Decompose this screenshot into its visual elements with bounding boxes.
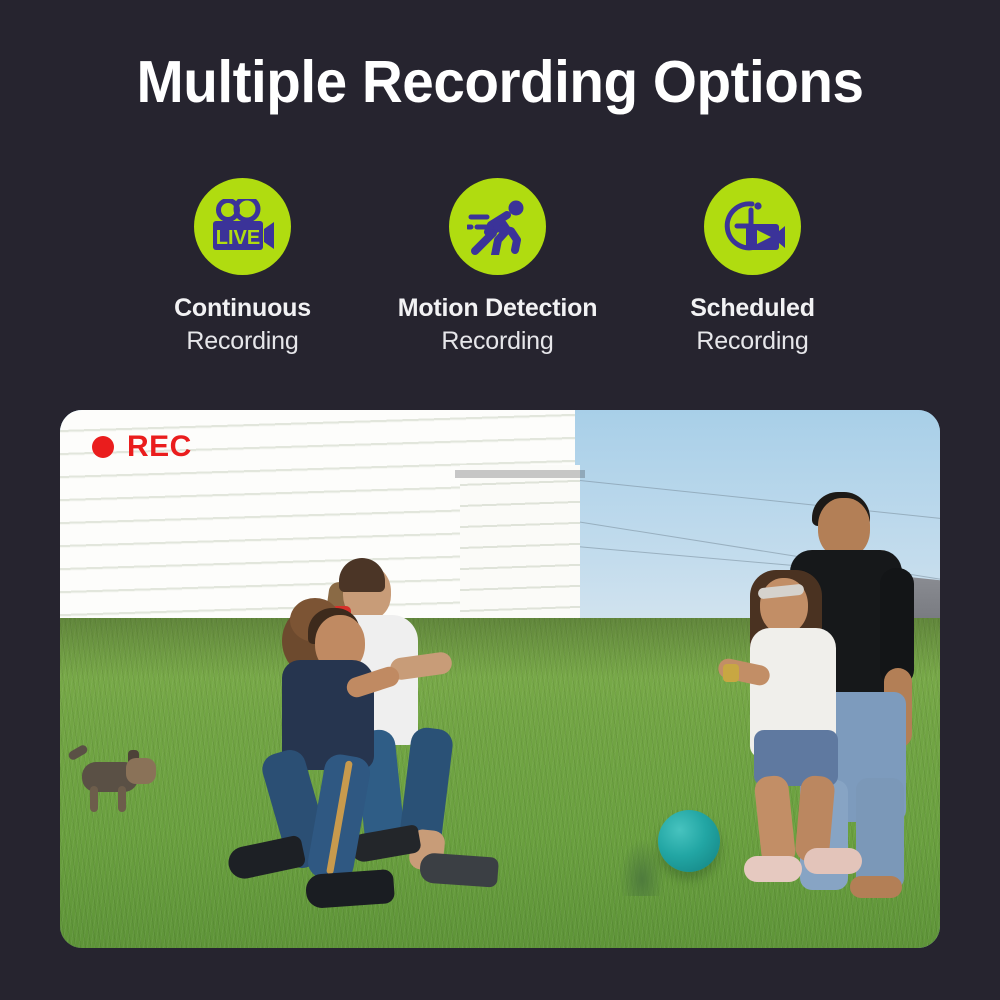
feature-scheduled-recording[interactable]: Scheduled Recording — [630, 178, 875, 356]
teal-ball — [658, 810, 720, 872]
eave-shadow — [455, 470, 585, 478]
right-girl-wristband — [723, 664, 739, 682]
feature-label: Motion Detection Recording — [398, 293, 598, 356]
feature-label-line2: Recording — [398, 326, 598, 357]
feature-row: LIVE Continuous Recording — [60, 178, 940, 356]
clock-video-camera-icon — [704, 178, 801, 275]
svg-text:LIVE: LIVE — [215, 227, 259, 249]
live-video-camera-icon: LIVE — [194, 178, 291, 275]
feature-motion-detection-recording[interactable]: Motion Detection Recording — [375, 178, 620, 356]
record-dot-icon — [92, 436, 114, 458]
girl-shoe — [305, 869, 395, 909]
feature-label-line1: Continuous — [174, 293, 311, 324]
promo-page: Multiple Recording Options LIVE Continuo… — [0, 0, 1000, 1000]
running-person-motion-icon — [449, 178, 546, 275]
rec-indicator: REC — [92, 432, 192, 462]
page-title: Multiple Recording Options — [20, 52, 980, 114]
feature-label-line2: Recording — [174, 326, 311, 357]
photo-scene — [60, 410, 940, 948]
family-backyard-photo: REC — [60, 410, 940, 948]
dog-leg — [118, 786, 126, 812]
feature-label: Continuous Recording — [174, 293, 311, 356]
feature-label-line2: Recording — [690, 326, 815, 357]
shrub — [620, 840, 664, 896]
dog-leg — [90, 786, 98, 812]
feature-label: Scheduled Recording — [690, 293, 815, 356]
woman-shoe — [419, 852, 499, 887]
rec-label: REC — [127, 432, 192, 462]
man-leg — [856, 778, 904, 890]
right-girl-shoe — [744, 856, 802, 882]
feature-label-line1: Motion Detection — [398, 293, 598, 324]
dog-head — [126, 758, 156, 784]
right-girl-shoe — [804, 848, 862, 874]
feature-continuous-recording[interactable]: LIVE Continuous Recording — [120, 178, 365, 356]
feature-label-line1: Scheduled — [690, 293, 815, 324]
man-head — [818, 498, 870, 558]
man-foot — [850, 876, 902, 898]
